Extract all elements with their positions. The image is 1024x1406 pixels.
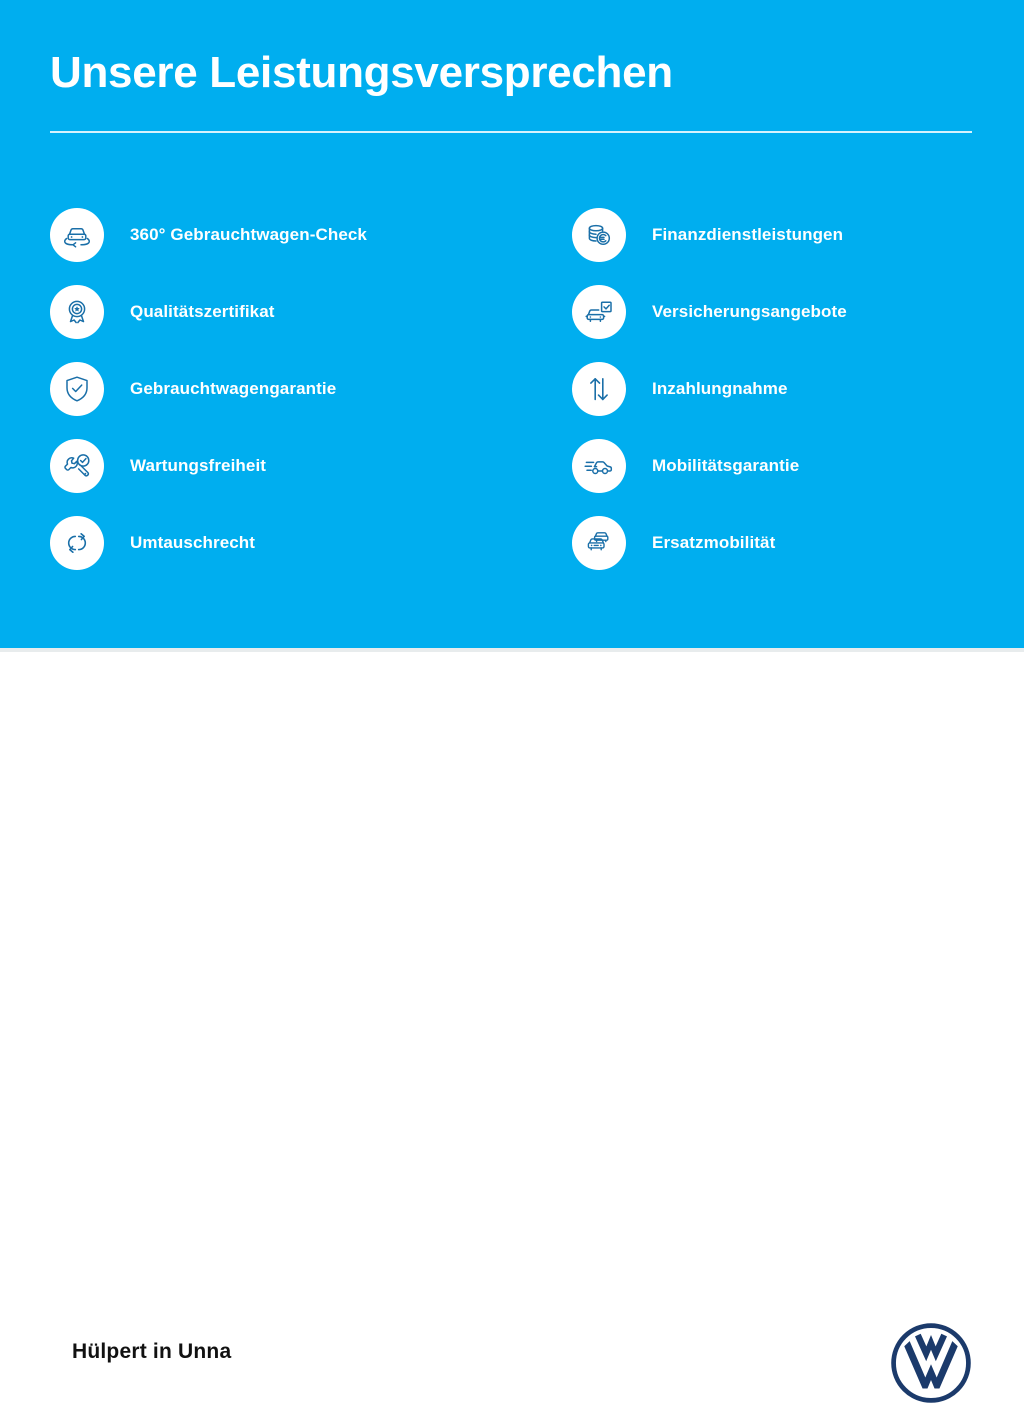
page-title: Unsere Leistungsversprechen bbox=[50, 46, 673, 100]
car-360-check-icon bbox=[50, 208, 104, 262]
feature-label: Umtauschrecht bbox=[130, 532, 255, 554]
dealer-name: Hülpert in Unna bbox=[72, 1340, 231, 1364]
title-divider bbox=[50, 131, 972, 133]
feature-item-ersatzmobilitaet[interactable]: Ersatzmobilität bbox=[520, 504, 980, 581]
shield-check-icon bbox=[50, 362, 104, 416]
feature-item-wartungsfreiheit[interactable]: Wartungsfreiheit bbox=[50, 427, 520, 504]
two-cars-icon bbox=[572, 516, 626, 570]
car-speed-icon bbox=[572, 439, 626, 493]
feature-label: Versicherungsangebote bbox=[652, 301, 847, 323]
wrench-check-icon bbox=[50, 439, 104, 493]
feature-label: 360° Gebrauchtwagen-Check bbox=[130, 224, 367, 246]
feature-label: Mobilitätsgarantie bbox=[652, 455, 799, 477]
car-checkbox-icon bbox=[572, 285, 626, 339]
exchange-arrows-icon bbox=[50, 516, 104, 570]
feature-item-versicherungsangebote[interactable]: Versicherungsangebote bbox=[520, 273, 980, 350]
feature-label: Qualitätszertifikat bbox=[130, 301, 275, 323]
feature-item-umtauschrecht[interactable]: Umtauschrecht bbox=[50, 504, 520, 581]
hero-panel: Unsere Leistungsversprechen 360° G bbox=[0, 0, 1024, 648]
coins-euro-icon bbox=[572, 208, 626, 262]
features-grid: 360° Gebrauchtwagen-Check Finanzd bbox=[50, 196, 980, 581]
slide-root: Unsere Leistungsversprechen 360° G bbox=[0, 0, 1024, 768]
feature-item-inzahlungnahme[interactable]: Inzahlungnahme bbox=[520, 350, 980, 427]
feature-label: Inzahlungnahme bbox=[652, 378, 788, 400]
feature-item-mobilitaetsgarantie[interactable]: Mobilitätsgarantie bbox=[520, 427, 980, 504]
award-rosette-icon bbox=[50, 285, 104, 339]
feature-item-qualitaetszertifikat[interactable]: Qualitätszertifikat bbox=[50, 273, 520, 350]
feature-label: Wartungsfreiheit bbox=[130, 455, 266, 477]
feature-item-gebrauchtwagengarantie[interactable]: Gebrauchtwagengarantie bbox=[50, 350, 520, 427]
feature-label: Gebrauchtwagengarantie bbox=[130, 378, 336, 400]
feature-label: Ersatzmobilität bbox=[652, 532, 775, 554]
arrows-up-down-icon bbox=[572, 362, 626, 416]
volkswagen-logo bbox=[888, 1320, 974, 1406]
footer-bar: Hülpert in Unna bbox=[0, 652, 1024, 768]
feature-item-gebrauchtwagen-check[interactable]: 360° Gebrauchtwagen-Check bbox=[50, 196, 520, 273]
feature-label: Finanzdienstleistungen bbox=[652, 224, 843, 246]
feature-item-finanzdienstleistungen[interactable]: Finanzdienstleistungen bbox=[520, 196, 980, 273]
